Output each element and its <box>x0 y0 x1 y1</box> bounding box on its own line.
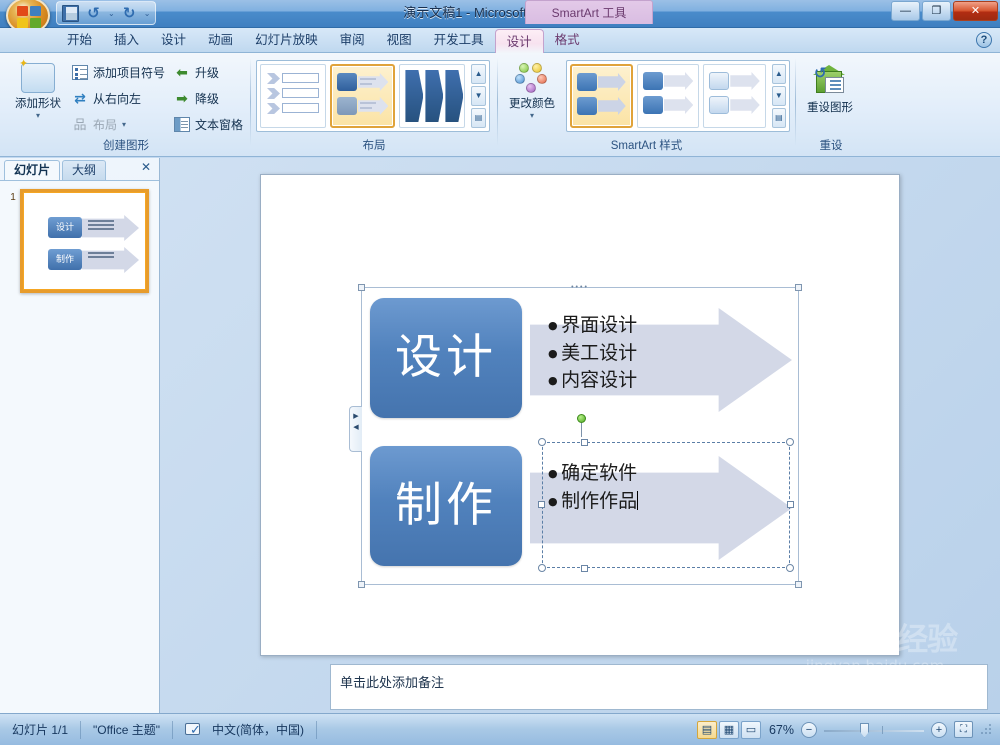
normal-view-button[interactable]: ▤ <box>697 721 717 739</box>
tab-slides[interactable]: 幻灯片 <box>4 160 60 180</box>
view-buttons: ▤ ▦ ▭ <box>696 720 762 740</box>
help-icon[interactable]: ? <box>976 32 992 48</box>
demote-icon: ➡ <box>174 91 190 106</box>
quick-access-toolbar: ↺ ⌄ ↻ ⌄ <box>56 1 156 25</box>
selection-handle-tm[interactable] <box>581 439 588 446</box>
smartart-bullets-1[interactable]: 界面设计 美工设计 内容设计 <box>548 312 637 395</box>
styles-scroll-up-icon[interactable]: ▲ <box>772 64 786 84</box>
add-shape-label: 添加形状 <box>15 98 61 110</box>
reset-graphic-label: 重设图形 <box>807 102 853 114</box>
layouts-more-icon[interactable]: ▤ <box>471 108 486 128</box>
styles-gallery-scroll[interactable]: ▲ ▼ ▤ <box>772 64 786 128</box>
tab-insert[interactable]: 插入 <box>103 28 150 53</box>
notes-pane[interactable]: 单击此处添加备注 <box>330 664 988 710</box>
customize-qat-icon[interactable]: ⌄ <box>144 5 151 22</box>
redo-icon[interactable]: ↻ <box>121 5 138 22</box>
text-pane-button[interactable]: 文本窗格 <box>174 113 243 135</box>
close-panel-icon[interactable]: ✕ <box>139 161 153 175</box>
smartart-title-1[interactable]: 设计 <box>370 298 522 418</box>
smartart-row-2[interactable]: 制作 确定软件 制作作品 <box>370 440 792 570</box>
window-buttons: — ❐ ✕ <box>891 1 998 21</box>
selection-handle-br[interactable] <box>786 564 794 572</box>
text-pane-toggle-tab[interactable]: ▶◀ <box>349 406 362 452</box>
bullet-item: 界面设计 <box>548 312 637 340</box>
layouts-gallery-scroll[interactable]: ▲ ▼ ▤ <box>471 64 486 128</box>
bullet-item: 美工设计 <box>548 340 637 368</box>
save-icon[interactable] <box>62 5 79 22</box>
promote-icon: ⬅ <box>174 65 190 80</box>
bullet-text: 制作作品 <box>561 490 637 512</box>
thumb-row-1-title: 设计 <box>48 217 82 238</box>
smartart-handle-tr[interactable] <box>795 284 802 291</box>
tab-home[interactable]: 开始 <box>56 28 103 53</box>
bullet-icon <box>72 65 88 80</box>
ribbon: 添加形状 ▾ 添加项目符号 ⇄ 从右向左 品 布局 ▾ ⬅ <box>0 53 1000 157</box>
tab-slideshow[interactable]: 幻灯片放映 <box>244 28 329 53</box>
smartart-bullets-2[interactable]: 确定软件 制作作品 <box>548 460 638 515</box>
slide-counter[interactable]: 幻灯片 1/1 <box>0 721 81 739</box>
selection-handle-ml[interactable] <box>538 501 545 508</box>
tab-smartart-design[interactable]: 设计 <box>495 29 544 54</box>
zoom-slider[interactable] <box>824 722 924 738</box>
slide-thumbnail-item[interactable]: 1 设计 制作 <box>6 189 149 293</box>
add-bullet-label: 添加项目符号 <box>93 64 165 81</box>
close-button[interactable]: ✕ <box>953 1 998 21</box>
group-label-reset: 重设 <box>796 139 866 154</box>
right-to-left-label: 从右向左 <box>93 90 141 107</box>
tab-strip-spacer <box>0 28 56 53</box>
layout-label: 布局 <box>93 116 117 133</box>
slide-thumbnail-preview: 设计 制作 <box>24 193 145 289</box>
layout-thumb-process-arrow-selected[interactable] <box>330 64 396 128</box>
thumb-arrow-shape-2 <box>82 247 139 273</box>
change-colors-button[interactable]: 更改颜色 ▾ <box>501 60 563 120</box>
thumb-row-2-bullets <box>88 252 114 260</box>
status-bar: 幻灯片 1/1 "Office 主题" 中文(简体，中国) ▤ ▦ ▭ 67% … <box>0 713 1000 745</box>
smartart-handle-bl[interactable] <box>358 581 365 588</box>
demote-button[interactable]: ➡ 降级 <box>174 87 219 109</box>
ribbon-group-layouts: ▲ ▼ ▤ 布局 <box>251 54 497 155</box>
ribbon-tab-strip: 开始 插入 设计 动画 幻灯片放映 审阅 视图 开发工具 设计 格式 ? <box>0 28 1000 53</box>
tab-smartart-format[interactable]: 格式 <box>544 28 591 53</box>
bullet-item-editing: 制作作品 <box>548 488 638 516</box>
undo-dropdown-icon[interactable]: ⌄ <box>108 5 115 22</box>
thumb-row-2: 制作 <box>48 247 139 273</box>
promote-label: 升级 <box>195 64 219 81</box>
thumb-row-1: 设计 <box>48 215 139 241</box>
zoom-in-button[interactable]: + <box>931 722 947 738</box>
bullet-item: 确定软件 <box>548 460 638 488</box>
text-cursor <box>637 491 638 510</box>
selection-handle-tr[interactable] <box>786 438 794 446</box>
office-logo-icon <box>17 6 41 28</box>
reset-graphic-button[interactable]: ↺ 重设图形 <box>798 62 862 115</box>
smartart-row-1[interactable]: 设计 界面设计 美工设计 内容设计 <box>370 292 792 422</box>
slide-number: 1 <box>6 189 20 293</box>
selection-handle-bl[interactable] <box>538 564 546 572</box>
selection-handle-bm[interactable] <box>581 565 588 572</box>
resize-grip[interactable] <box>980 724 992 736</box>
slides-panel-tabs: 幻灯片 大纲 ✕ <box>0 158 159 180</box>
change-colors-icon <box>515 63 549 93</box>
smartart-frame-top-handle[interactable]: •••• <box>571 284 589 291</box>
tab-animations[interactable]: 动画 <box>197 28 244 53</box>
tab-outline[interactable]: 大纲 <box>62 160 106 180</box>
smartart-handle-tl[interactable] <box>358 284 365 291</box>
tab-view[interactable]: 视图 <box>376 28 423 53</box>
layout-button[interactable]: 品 布局 ▾ <box>72 113 126 135</box>
demote-label: 降级 <box>195 90 219 107</box>
layout-thumb-chevron-list[interactable] <box>260 64 326 128</box>
theme-name[interactable]: "Office 主题" <box>81 721 173 739</box>
contextual-tab-header: SmartArt 工具 <box>525 0 653 24</box>
style-thumb-flat-selected[interactable] <box>570 64 633 128</box>
tab-developer[interactable]: 开发工具 <box>423 28 495 53</box>
smartart-styles-gallery[interactable]: ▲ ▼ ▤ <box>566 60 790 132</box>
slideshow-view-button[interactable]: ▭ <box>741 721 761 739</box>
add-bullet-button[interactable]: 添加项目符号 <box>72 61 165 83</box>
layouts-gallery[interactable]: ▲ ▼ ▤ <box>256 60 490 132</box>
undo-icon[interactable]: ↺ <box>85 5 102 22</box>
thumb-row-2-title: 制作 <box>48 249 82 270</box>
selection-handle-mr[interactable] <box>787 501 794 508</box>
group-label-create-graphic-text: 创建图形 <box>2 139 250 154</box>
zoom-slider-tick <box>882 726 883 734</box>
smartart-handle-br[interactable] <box>795 581 802 588</box>
add-shape-button[interactable]: 添加形状 ▾ <box>6 60 70 120</box>
layout-thumb-vertical-chevrons[interactable] <box>399 64 465 128</box>
change-colors-dropdown-icon[interactable]: ▾ <box>501 111 563 120</box>
change-colors-label: 更改颜色 <box>509 98 555 110</box>
language-section[interactable]: 中文(简体，中国) <box>173 721 317 739</box>
slide-sorter-view-button[interactable]: ▦ <box>719 721 739 739</box>
promote-button[interactable]: ⬅ 升级 <box>174 61 219 83</box>
ribbon-group-reset: ↺ 重设图形 重设 <box>796 54 866 155</box>
status-bar-right: ▤ ▦ ▭ 67% − + ⛶ <box>696 720 1000 740</box>
fit-to-window-button[interactable]: ⛶ <box>954 721 973 738</box>
selection-handle-tl[interactable] <box>538 438 546 446</box>
reset-graphic-icon: ↺ <box>812 65 848 97</box>
add-shape-icon <box>21 63 55 93</box>
rotation-stem <box>581 423 582 437</box>
add-shape-dropdown-icon[interactable]: ▾ <box>6 111 70 120</box>
notes-placeholder: 单击此处添加备注 <box>340 675 444 690</box>
slide-thumbnail-selected[interactable]: 设计 制作 <box>20 189 149 293</box>
group-label-layouts: 布局 <box>251 139 497 154</box>
minimize-button[interactable]: — <box>891 1 920 21</box>
slides-panel: 幻灯片 大纲 ✕ 1 设计 制作 <box>0 158 160 713</box>
tab-design[interactable]: 设计 <box>150 28 197 53</box>
zoom-slider-thumb[interactable] <box>860 723 869 738</box>
text-pane-label: 文本窗格 <box>195 116 243 133</box>
rotation-handle[interactable] <box>577 414 586 423</box>
layout-icon: 品 <box>72 117 88 132</box>
tab-review[interactable]: 审阅 <box>329 28 376 53</box>
slide-edit-area: •••• ▶◀ 设计 界面设计 美工设计 内容设计 <box>160 158 1000 713</box>
thumb-row-1-bullets <box>88 220 114 232</box>
smartart-title-2[interactable]: 制作 <box>370 446 522 566</box>
spellcheck-icon[interactable] <box>185 722 202 737</box>
maximize-button[interactable]: ❐ <box>922 1 951 21</box>
ribbon-group-create-graphic: 添加形状 ▾ 添加项目符号 ⇄ 从右向左 品 布局 ▾ ⬅ <box>2 54 250 155</box>
style-thumb-outline[interactable] <box>637 64 700 128</box>
styles-more-icon[interactable]: ▤ <box>772 108 786 128</box>
language-label: 中文(简体，中国) <box>212 721 304 739</box>
powerpoint-window: 演示文稿1 - Microsoft PowerPoint ↺ ⌄ ↻ ⌄ Sma… <box>0 0 1000 745</box>
layouts-scroll-up-icon[interactable]: ▲ <box>471 64 486 84</box>
slides-panel-body: 1 设计 制作 <box>0 180 159 713</box>
title-bar: 演示文稿1 - Microsoft PowerPoint ↺ ⌄ ↻ ⌄ Sma… <box>0 0 1000 28</box>
right-to-left-button[interactable]: ⇄ 从右向左 <box>72 87 141 109</box>
zoom-level-label[interactable]: 67% <box>769 723 794 737</box>
text-pane-icon <box>174 117 190 132</box>
slide-canvas[interactable]: •••• ▶◀ 设计 界面设计 美工设计 内容设计 <box>260 174 900 656</box>
rtl-icon: ⇄ <box>72 91 88 106</box>
style-thumb-light[interactable] <box>703 64 766 128</box>
smartart-frame[interactable]: •••• ▶◀ 设计 界面设计 美工设计 内容设计 <box>361 287 799 585</box>
zoom-out-button[interactable]: − <box>801 722 817 738</box>
ribbon-group-smartart-styles: 更改颜色 ▾ <box>498 54 795 155</box>
layout-dropdown-icon[interactable]: ▾ <box>122 120 126 129</box>
bullet-item: 内容设计 <box>548 367 637 395</box>
group-label-smartart-styles: SmartArt 样式 <box>498 139 795 154</box>
layouts-scroll-down-icon[interactable]: ▼ <box>471 86 486 106</box>
styles-scroll-down-icon[interactable]: ▼ <box>772 86 786 106</box>
